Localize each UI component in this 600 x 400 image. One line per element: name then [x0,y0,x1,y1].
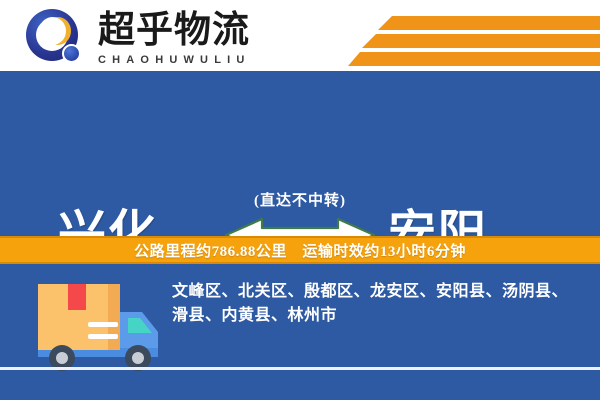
brand-name-cn: 超乎物流 [98,11,278,51]
delivery-truck-icon [24,278,164,374]
brand-block: 超乎物流 CHAOHUWULIU [98,11,278,66]
logo-crescent-cutout [39,17,66,45]
coverage-panel: 文峰区、北关区、殷都区、龙安区、安阳县、汤阴县、滑县、内黄县、林州市 [0,264,600,400]
decorative-stripes [348,0,600,71]
stripe-bottom [348,52,600,66]
logistics-route-banner: 超乎物流 CHAOHUWULIU 兴化 (直达不中转) 【往返运输】 安阳 公路… [0,0,600,400]
banner-header: 超乎物流 CHAOHUWULIU [0,0,600,71]
trip-info-bar: 公路里程约786.88公里 运输时效约13小时6分钟 [0,236,600,264]
covered-districts-text: 文峰区、北关区、殷都区、龙安区、安阳县、汤阴县、滑县、内黄县、林州市 [172,280,584,328]
stripe-middle [362,34,600,48]
circle-crescent-logo-icon [26,9,88,65]
route-panel: 兴化 (直达不中转) 【往返运输】 安阳 [0,71,600,236]
stripe-top [378,16,600,30]
brand-name-en: CHAOHUWULIU [98,54,278,66]
ground-line [0,367,600,370]
distance-and-duration-text: 公路里程约786.88公里 运输时效约13小时6分钟 [134,240,466,261]
logo-accent-dot [62,44,81,63]
route-note-direct: (直达不中转) [0,189,600,210]
